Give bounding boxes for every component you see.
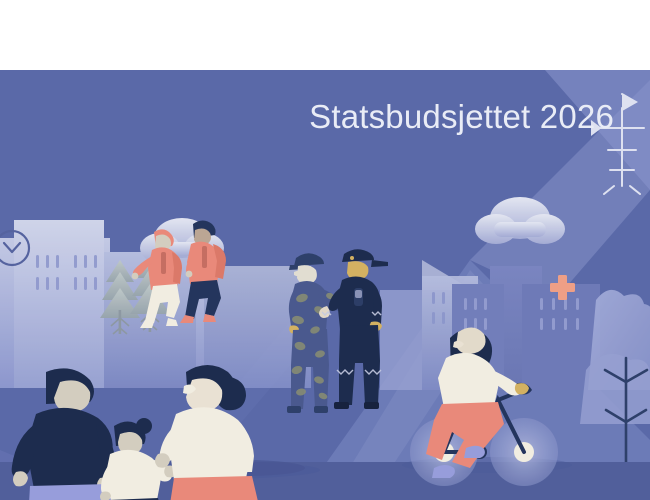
- top-white-band: [0, 0, 650, 70]
- hero-illustration: [0, 70, 650, 500]
- screenshot-root: Statsbudsjettet 2026: [0, 0, 650, 500]
- grain-overlay: [0, 70, 650, 500]
